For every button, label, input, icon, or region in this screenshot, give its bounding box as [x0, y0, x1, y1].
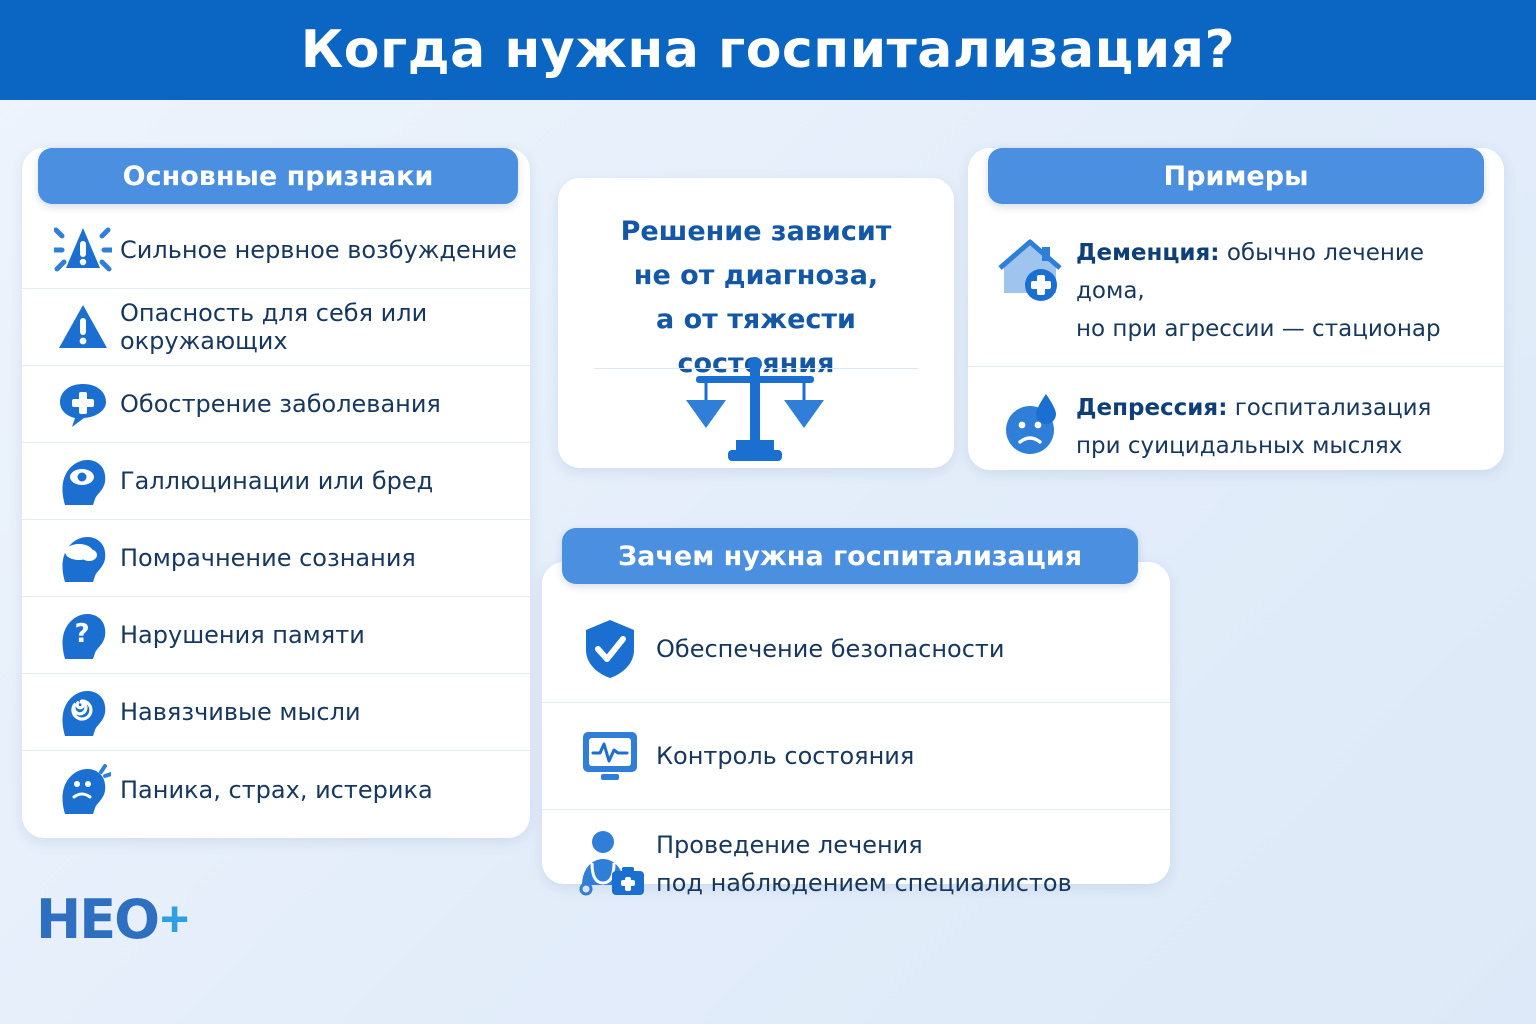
list-item[interactable]: Опасность для себя или окружающих [22, 289, 530, 366]
head-spiral-icon [52, 683, 114, 741]
list-item-label: Проведение лечения под наблюдением специ… [656, 826, 1072, 902]
brand-logo: HEO + [36, 888, 266, 950]
signs-card-header: Основные признаки [38, 148, 518, 204]
list-item[interactable]: Паника, страх, истерика [22, 751, 530, 828]
list-item[interactable]: Контроль состояния [542, 703, 1170, 810]
why-line-2: под наблюдением специалистов [656, 869, 1072, 897]
brand-logo-plus: + [160, 890, 189, 948]
example-second-line: при суицидальных мыслях [1076, 433, 1402, 459]
example-bold-label: Депрессия: [1076, 395, 1227, 421]
signs-card-header-label: Основные признаки [123, 161, 434, 192]
medical-cross-speech-icon [52, 375, 114, 433]
list-item[interactable]: Помрачнение сознания [22, 520, 530, 597]
example-rest-label: госпитализация [1227, 395, 1431, 421]
list-item[interactable]: Обострение заболевания [22, 366, 530, 443]
list-item[interactable]: ? Нарушения памяти [22, 597, 530, 674]
list-item-label: Контроль состояния [656, 737, 914, 775]
list-item[interactable]: Проведение лечения под наблюдением специ… [542, 810, 1170, 918]
head-eye-icon [52, 452, 114, 510]
why-card-header-label: Зачем нужна госпитализация [618, 541, 1082, 572]
list-item-label: Паника, страх, истерика [120, 776, 433, 804]
list-item[interactable]: Навязчивые мысли [22, 674, 530, 751]
house-medical-icon [994, 230, 1072, 308]
examples-card-header: Примеры [988, 148, 1484, 204]
list-item-label: Обеспечение безопасности [656, 630, 1005, 668]
page-header: Когда нужна госпитализация? [0, 0, 1536, 100]
head-panic-icon [52, 761, 114, 819]
list-item-label: Сильное нервное возбуждение [120, 236, 517, 264]
list-item-label: Нарушения памяти [120, 621, 365, 649]
why-line-1: Проведение лечения [656, 831, 923, 859]
brand-logo-text: HEO [36, 888, 158, 951]
why-list: Обеспечение безопасности Контроль состоя… [542, 596, 1170, 918]
example-second-line: но при агрессии — стационар [1076, 316, 1441, 342]
why-card-header: Зачем нужна госпитализация [562, 528, 1138, 584]
list-item-label: Депрессия: госпитализация при суицидальн… [1076, 385, 1431, 465]
list-item-label: Помрачнение сознания [120, 544, 416, 572]
decision-line-1: Решение зависит [578, 210, 934, 254]
list-item-label: Навязчивые мысли [120, 698, 361, 726]
list-item[interactable]: Галлюцинации или бред [22, 443, 530, 520]
list-item[interactable]: Сильное нервное возбуждение [22, 212, 530, 289]
list-item-label: Деменция: обычно лечение дома, но при аг… [1076, 230, 1478, 348]
examples-card-header-label: Примеры [1164, 161, 1309, 192]
list-item[interactable]: Депрессия: госпитализация при суицидальн… [968, 367, 1504, 483]
signs-list: Сильное нервное возбуждение Опасность дл… [22, 212, 530, 828]
list-item[interactable]: Обеспечение безопасности [542, 596, 1170, 703]
doctor-icon [568, 827, 652, 901]
list-item-label: Галлюцинации или бред [120, 467, 433, 495]
example-bold-label: Деменция: [1076, 240, 1220, 266]
examples-list: Деменция: обычно лечение дома, но при аг… [968, 212, 1504, 483]
head-question-icon: ? [52, 606, 114, 664]
page-title: Когда нужна госпитализация? [301, 20, 1235, 80]
list-item-label: Опасность для себя или окружающих [120, 299, 530, 355]
svg-text:?: ? [74, 619, 89, 649]
head-cloud-icon [52, 529, 114, 587]
monitor-pulse-icon [568, 719, 652, 793]
agitation-icon [52, 221, 114, 279]
list-item-label: Обострение заболевания [120, 390, 441, 418]
shield-check-icon [568, 612, 652, 686]
warning-triangle-icon [52, 298, 114, 356]
list-item[interactable]: Деменция: обычно лечение дома, но при аг… [968, 212, 1504, 367]
sad-face-drop-icon [994, 385, 1072, 463]
decision-line-2: не от диагноза, [578, 254, 934, 298]
scales-balance-icon [676, 352, 836, 472]
